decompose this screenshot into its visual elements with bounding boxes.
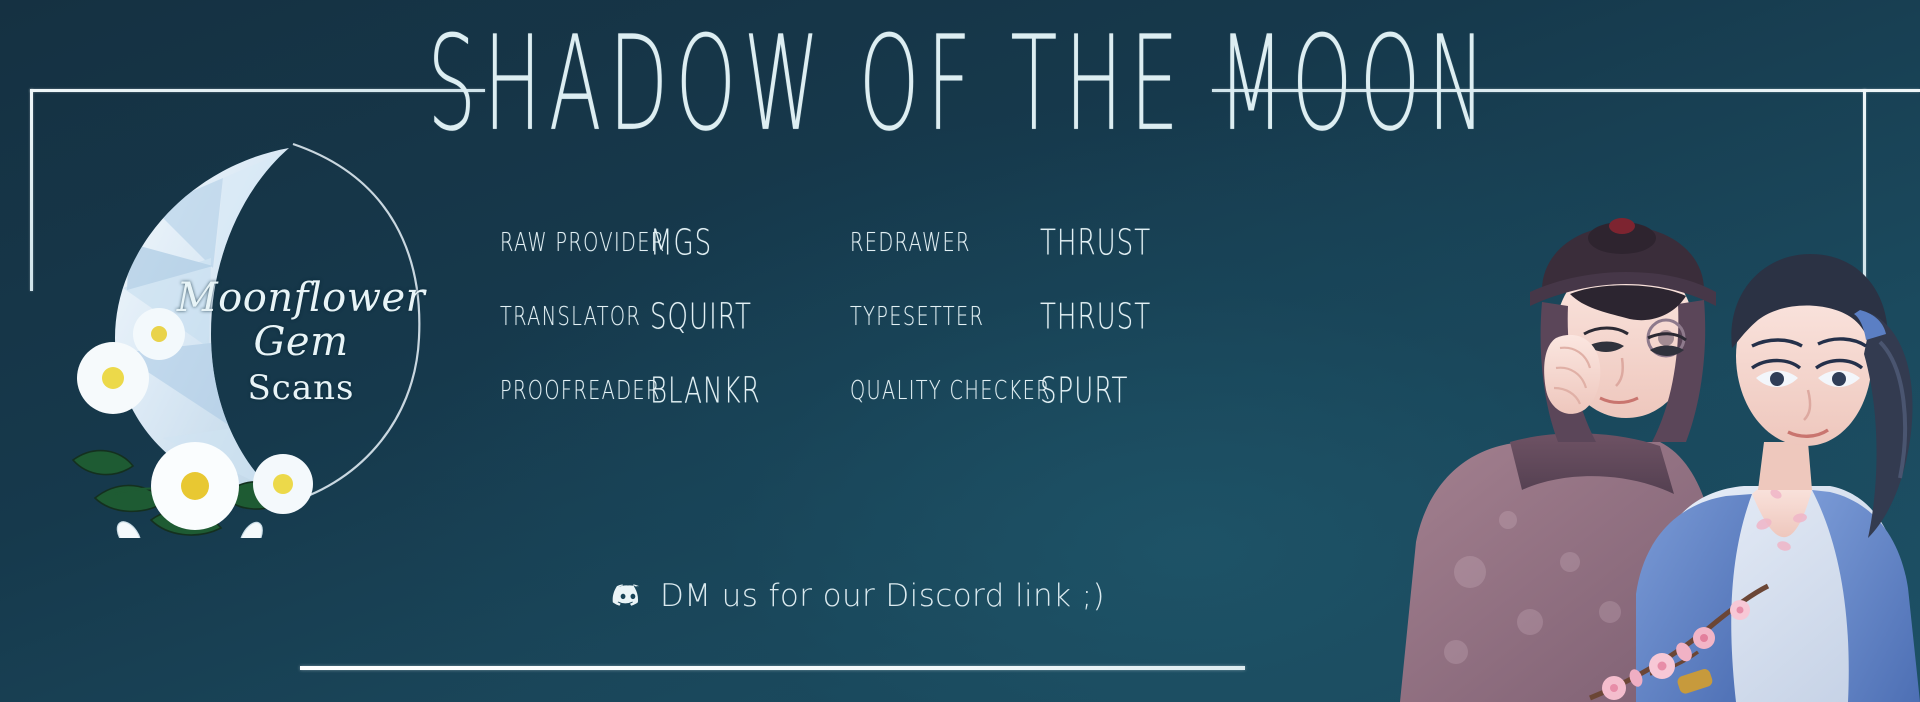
discord-invite-row[interactable]: DM us for our Discord link ;) [612,578,1105,614]
credit-value-typesetter: THRUST [1040,296,1208,337]
credit-label-redrawer: REDRAWER [850,228,1010,257]
frame-line-left [30,89,33,291]
credit-label-quality-checker: QUALITY CHECKER [850,376,1010,405]
credits-grid: RAW PROVIDER MGS REDRAWER THRUST TRANSLA… [500,206,1240,428]
credit-label-translator: TRANSLATOR [500,302,626,331]
credit-value-quality-checker: SPURT [1040,370,1208,411]
credit-value-redrawer: THRUST [1040,222,1208,263]
characters-artwork [1360,142,1920,702]
credit-label-proofreader: PROOFREADER [500,376,626,405]
cherry-blossom-branch [1580,582,1770,702]
credit-label-typesetter: TYPESETTER [850,302,1010,331]
logo-name-line1: Moonflower Gem [177,275,426,365]
discord-icon [612,580,644,612]
logo-name-line2: Scans [151,366,451,410]
logo-wordmark: Moonflower Gem Scans [151,276,451,410]
credit-value-proofreader: BLANKR [650,370,818,411]
credit-value-translator: SQUIRT [650,296,818,337]
credit-value-raw-provider: MGS [650,222,818,263]
logo: Moonflower Gem Scans [55,128,455,548]
discord-invite-text: DM us for our Discord link ;) [660,578,1105,614]
credit-label-raw-provider: RAW PROVIDER [500,228,626,257]
credits-page: SHADOW OF THE MOON [0,0,1920,702]
page-title: SHADOW OF THE MOON [250,18,1671,149]
bottom-divider [300,666,1245,670]
